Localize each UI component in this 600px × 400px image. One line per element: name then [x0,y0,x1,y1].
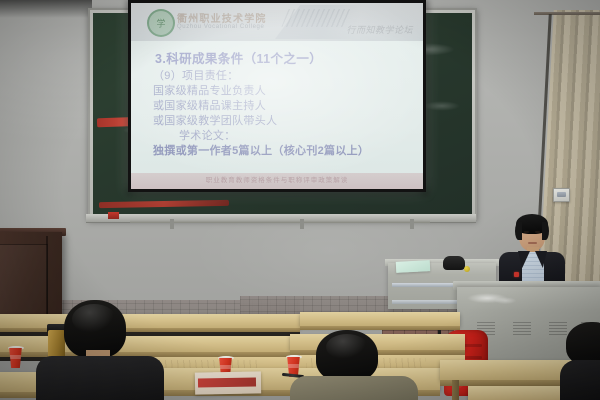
black-bag[interactable] [443,256,465,270]
classroom-photo: 学 衢州职业技术学院 Quzhou Vocational College 行而知… [0,0,600,400]
light-switch-button[interactable] [557,192,566,197]
red-cover-notebook[interactable] [195,371,261,394]
tray-bracket [410,219,414,229]
presenter-eye-left [524,231,529,233]
slide-line-bold: 独撰或第一作者5篇以上（核心刊2篇以上） [153,144,423,159]
institution-name-cn: 衢州职业技术学院 [177,10,267,25]
slide-footer: 职业教育教师资格条件与职称评审政策解读 [131,173,423,189]
ceiling-shadow [0,0,92,18]
presenter-mouth [528,242,537,244]
cup-band [219,365,232,369]
presenter-hair-right [542,222,549,240]
audience-member-right [560,322,600,400]
audience-hair-sheen [326,334,368,360]
slide-title: 3.科研成果条件（11个之一） [155,48,423,67]
slide-line-indent: 学术论文： [179,129,423,144]
light-switch[interactable] [553,188,570,202]
audience-member-left [36,300,166,400]
chalk-tray-rail [130,220,430,223]
podium-scuff-mark [465,291,521,307]
wall-marker-red [108,212,119,219]
desk-row-3b[interactable] [300,312,460,326]
header-banner-lines [281,9,352,27]
audience-hair-sheen [72,304,116,334]
tray-bracket [300,219,304,229]
tray-bracket [170,219,174,229]
header-script-text: 行而知教学论坛 [346,23,413,36]
projection-screen: 学 衢州职业技术学院 Quzhou Vocational College 行而知… [128,0,426,192]
college-seal-logo: 学 [147,9,175,37]
audience-body-center [290,376,418,400]
paper-documents[interactable] [396,260,431,273]
slide-line-3: 或国家级精品课主持人 [153,99,423,114]
slide-header: 学 衢州职业技术学院 Quzhou Vocational College 行而知… [131,3,423,41]
audience-body-right [560,360,600,400]
curtain-rod [534,12,600,15]
yellow-small-object[interactable] [464,266,470,272]
slide-line-1: （9）项目责任： [153,69,423,84]
slide-body: 3.科研成果条件（11个之一） （9）项目责任： 国家级精品专业负责人 或国家级… [131,41,423,186]
slide-line-2: 国家级精品专业负责人 [153,84,423,99]
slide-footer-text: 职业教育教师资格条件与职称评审政策解读 [131,173,423,189]
presenter-lapel-badge [514,272,519,277]
audience-member-center [288,330,418,400]
desk-leg [452,380,459,400]
presenter-eye-right [535,231,540,233]
presenter [497,214,573,290]
seal-glyph: 学 [156,17,165,30]
audience-body-left [36,356,164,400]
institution-name-en: Quzhou Vocational College [177,24,264,30]
cup-band [9,355,22,359]
notebook-cover-band [198,378,256,388]
presenter-hair-left [515,222,522,240]
podium-vent [513,321,531,335]
slide-line-4: 或国家级教学团队带头人 [153,114,423,129]
